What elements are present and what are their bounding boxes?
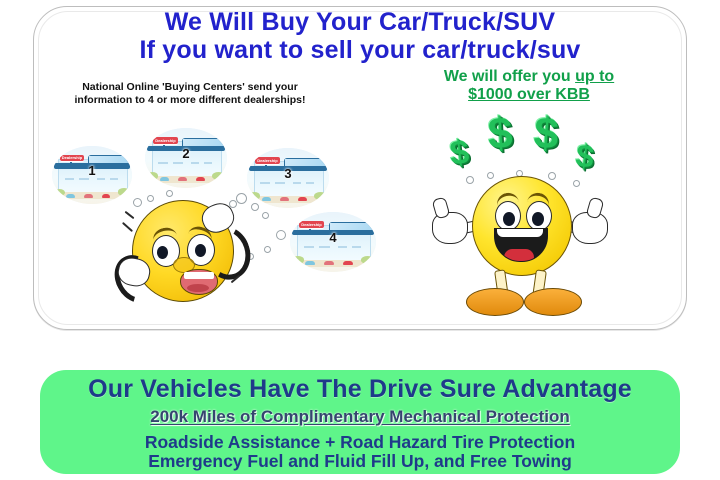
thought-dot (251, 203, 259, 211)
banner-line-4: Emergency Fuel and Fluid Fill Up, and Fr… (40, 451, 680, 472)
grass-right (314, 192, 327, 200)
window-strip (275, 182, 285, 184)
dollar-sign-icon: $ (487, 111, 514, 156)
shoe-left (466, 288, 524, 316)
caption-line-2: information to 4 or more different deale… (74, 94, 305, 106)
window-strip (79, 178, 89, 180)
thought-bubble-dealership-3: Dealership 3 (247, 148, 329, 208)
grass-left (249, 192, 260, 199)
thought-dot (276, 230, 286, 240)
offer-underline-1: up to (575, 68, 614, 85)
offer-text: We will offer you up to $1000 over KBB (398, 68, 660, 104)
thought-bubble-dealership-4: Dealership 4 (290, 212, 376, 272)
drive-sure-advantage-banner: Our Vehicles Have The Drive Sure Advanta… (40, 370, 680, 474)
grass-right (118, 188, 131, 196)
thought-dot (262, 212, 269, 219)
worried-emoji (118, 196, 244, 308)
bubble-number: 1 (52, 163, 132, 178)
offer-prefix: We will offer you (444, 68, 575, 85)
grass-right (361, 256, 375, 264)
dealership-sign-label: Dealership (153, 137, 178, 144)
parked-car (298, 197, 307, 201)
happy-emoji (428, 176, 608, 316)
tongue (187, 284, 209, 292)
window-strip (260, 182, 270, 184)
parked-car (262, 197, 271, 201)
banner-line-1: Our Vehicles Have The Drive Sure Advanta… (40, 375, 680, 404)
window-strip (158, 162, 168, 164)
pupil-left (157, 246, 168, 259)
grass-right (212, 172, 225, 180)
thought-bubble-dealership-2: Dealership 2 (145, 128, 227, 188)
window-strip (191, 162, 199, 164)
banner-line-2: 200k Miles of Complimentary Mechanical P… (40, 407, 680, 427)
grass-left (292, 256, 304, 263)
parked-car (160, 177, 169, 181)
eye-right (526, 201, 552, 231)
thought-dot (264, 246, 271, 253)
caption-line-1: National Online 'Buying Centers' send yo… (82, 81, 298, 93)
dollar-sign-icon: $ (532, 111, 559, 157)
advertisement-flyer: We Will Buy Your Car/Truck/SUV If you wa… (0, 0, 720, 480)
teeth (184, 272, 214, 279)
dealership-sign: Dealership (60, 155, 84, 161)
dealership-sign-label: Dealership (299, 221, 325, 228)
dealership-sign-label: Dealership (60, 155, 84, 161)
dealership-sign: Dealership (299, 221, 325, 228)
window-strip (352, 246, 361, 248)
dollar-sign-icon: $ (448, 135, 470, 171)
bubble-number: 2 (145, 146, 227, 161)
headline-line-2: If you want to sell your car/truck/suv (0, 38, 720, 64)
buying-centers-caption: National Online 'Buying Centers' send yo… (60, 81, 320, 108)
parked-car (84, 194, 93, 198)
window-strip (304, 246, 314, 248)
window-strip (204, 162, 212, 164)
window-strip (338, 246, 347, 248)
window-strip (306, 182, 314, 184)
dealership-sign: Dealership (255, 157, 280, 164)
grass-left (54, 189, 65, 196)
window-strip (319, 246, 329, 248)
parked-car (102, 194, 111, 198)
dealership-sign-label: Dealership (255, 157, 280, 164)
parked-car (178, 177, 187, 181)
parked-car (305, 261, 314, 265)
window-strip (173, 162, 183, 164)
window-strip (293, 182, 301, 184)
window-strip (110, 178, 118, 180)
pupil-right (532, 212, 544, 226)
page-title: We Will Buy Your Car/Truck/SUV If you wa… (0, 10, 720, 63)
upper-teeth (497, 229, 543, 237)
tongue (504, 249, 534, 261)
parked-car (280, 197, 289, 201)
motion-line (122, 222, 133, 232)
shoe-right (524, 288, 582, 316)
banner-line-3: Roadside Assistance + Road Hazard Tire P… (40, 432, 680, 453)
parked-car (343, 261, 352, 265)
dealership-sign: Dealership (153, 137, 178, 144)
parked-car (66, 194, 75, 198)
pupil-left (503, 212, 515, 226)
window-strip (65, 178, 75, 180)
eye-left (495, 201, 521, 231)
bubble-number: 3 (247, 166, 329, 181)
offer-underline-2: $1000 over KBB (468, 86, 590, 103)
grass-left (147, 172, 158, 179)
parked-car (196, 177, 205, 181)
motion-line (125, 211, 135, 219)
dollar-sign-icon: $ (574, 139, 596, 173)
window-strip (97, 178, 105, 180)
headline-line-1: We Will Buy Your Car/Truck/SUV (0, 10, 720, 36)
bubble-number: 4 (290, 230, 376, 245)
parked-car (324, 261, 333, 265)
